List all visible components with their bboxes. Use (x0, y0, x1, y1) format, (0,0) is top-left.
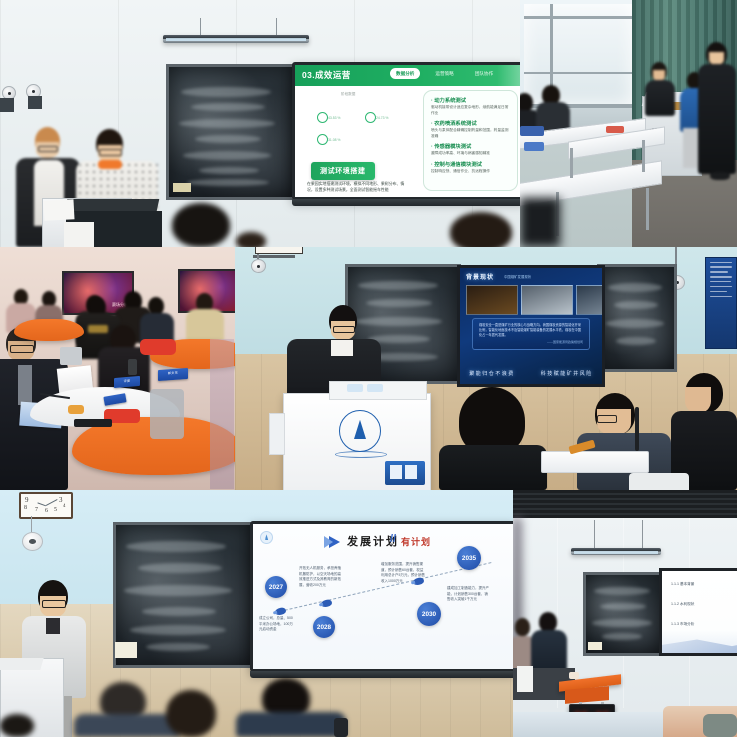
slide-performance-operations: 03.成效运营 数据分析 运营策略 团队协作 阶段数据 43.53 % 24.7… (295, 65, 520, 197)
slide-separator: // (390, 533, 396, 545)
slide-quote-box: 煤炭安全一直是煤矿行业的核心与战略方向。我国煤炭资源的智能化开采比例，智能化地面… (472, 318, 590, 350)
audience-shoulders (236, 712, 346, 737)
orange-table-back (14, 319, 84, 341)
slide-tab-0[interactable]: 数据分析 (390, 68, 420, 79)
blackboard (166, 64, 296, 200)
slide-line-2: 1.1.3 市场分析 (671, 622, 694, 627)
slide-tab-group: 数据分析 运营策略 团队协作 (390, 68, 499, 79)
ceiling-rail (253, 255, 295, 258)
eraser (115, 642, 137, 658)
security-camera-icon (251, 259, 266, 273)
slide-photo-1 (521, 285, 573, 315)
camera-mount (0, 98, 14, 112)
display-bezel-chin (292, 199, 520, 206)
donut-value-1: 24.73 % (376, 116, 388, 120)
phone (74, 419, 112, 427)
clock-number-8: 8 (24, 505, 27, 511)
donut-ring-0 (317, 112, 328, 123)
ceiling-light (571, 548, 661, 555)
clock-number-9: 9 (25, 496, 29, 504)
table-leg (570, 148, 573, 178)
slide-quote-attribution: ——国家能源局政策规划司 (479, 340, 583, 344)
window (524, 4, 632, 104)
snack (68, 405, 84, 414)
slide-photo-0 (466, 285, 518, 315)
blue-item (520, 126, 544, 136)
milestone-note-2028: 成立公司，总量、500平米办公场地，100万元启动资金 (259, 616, 293, 633)
panel-bottom-right-classroom-timer: 1.1.1 基本背景 1.1.2 水利现状 1.1.3 市场分析 00:00 (513, 490, 737, 737)
slide-title: 03.成效运营 (302, 69, 351, 81)
slide-line-1: 1.1.2 水利现状 (671, 602, 694, 607)
test-item-2: · 传感器模块测试 避障成功率高、环境与病害感知精准 (431, 142, 510, 157)
test-item-heading: · 传感器模块测试 (431, 142, 510, 150)
light-wire (276, 18, 277, 36)
wall-clock: 9 3 8 7 6 5 4 (19, 492, 73, 519)
audience-head (0, 714, 34, 737)
desk (541, 451, 649, 473)
blackboard (583, 572, 663, 656)
slide-header-bar: 03.成效运营 数据分析 运营策略 团队协作 (295, 65, 520, 86)
foreground-blur (520, 198, 560, 247)
wall-speaker (22, 532, 43, 551)
audience-head (450, 212, 512, 247)
milestone-note-2030: 增加服务范围，提升销售渠道，预计销售60台套，权益利用总计户5万元，预计销售收入… (381, 562, 425, 584)
paper-sheet (43, 199, 74, 221)
eraser (588, 642, 602, 650)
university-seal-icon (339, 410, 381, 452)
test-item-body: 驱动机接带设计适应复杂地形，续航能满足日常作业 (431, 105, 510, 116)
slide-body: 阶段数据 43.53 % 24.73 % 31.08 % 测试环境搭建 在果园实… (295, 86, 520, 197)
rocket-icon-1 (318, 599, 333, 609)
audience-head (236, 232, 266, 247)
display-blue-slide: 背景现状 中国煤矿发展现状 煤炭安全一直是煤矿行业的核心与战略方向。我国煤炭资源… (457, 265, 605, 387)
slide-logo-icon (260, 531, 273, 544)
front-table (513, 712, 663, 737)
nameplate-1: 郭文东 (158, 368, 188, 381)
blackboard-right (597, 264, 677, 372)
audience-head (172, 203, 230, 247)
pen-upright (635, 407, 639, 451)
milestone-bubble-2030: 2030 (417, 602, 441, 626)
clock-number-7: 7 (35, 507, 38, 513)
podium-top (0, 658, 44, 670)
nameplate-text: 评委 (114, 376, 140, 387)
lectern-side (269, 413, 285, 455)
wall-display: 发展计划 // 有计划 2027 2028 2030 2035 开拓无人机服务，… (250, 521, 513, 672)
test-item-heading: · 农药喷洒系统测试 (431, 119, 510, 127)
donut-value-2: 31.08 % (328, 138, 340, 142)
slide-development-plan: 发展计划 // 有计划 2027 2028 2030 2035 开拓无人机服务，… (253, 524, 513, 669)
test-item-0: · 动力系统测试 驱动机接带设计适应复杂地形，续航能满足日常作业 (431, 96, 510, 116)
wall-display: 03.成效运营 数据分析 运营策略 团队协作 阶段数据 43.53 % 24.7… (292, 62, 520, 200)
test-item-body: 喷头与泵体配合精确控制药量和范围，药量监测准确 (431, 128, 510, 139)
slide-photo-2 (576, 285, 605, 315)
panel-top-left-classroom: 03.成效运营 数据分析 运营策略 团队协作 阶段数据 43.53 % 24.7… (0, 0, 520, 247)
blue-item (524, 142, 544, 151)
slide-pill-label: 测试环境搭建 (311, 162, 375, 180)
blue-tag-inner (405, 465, 417, 479)
window-mullion (524, 16, 632, 19)
lectern-badge (367, 384, 383, 392)
milestone-bubble-2027: 2027 (265, 576, 287, 598)
clock-number-4: 4 (63, 504, 66, 509)
seal-ring (335, 451, 387, 458)
donut-ring-2 (317, 134, 328, 145)
ceiling-light (163, 35, 309, 43)
blue-tag-inner (390, 465, 402, 479)
test-item-heading: · 控制与通信模块测试 (431, 160, 510, 168)
donut-ring-1 (365, 112, 376, 123)
light-wire (594, 520, 595, 550)
red-bag (140, 339, 176, 355)
slide-tab-2[interactable]: 团队协作 (469, 68, 499, 79)
red-item (606, 126, 624, 133)
slide-footer-1: 科技赋能矿井风险 (541, 370, 593, 377)
slide-tab-1[interactable]: 运营策略 (429, 68, 459, 79)
slide-footer-0: 聚能归仓不浪费 (469, 370, 515, 377)
camera-mount (28, 96, 42, 109)
chair-back (150, 389, 184, 439)
slide-footer: 聚能归仓不浪费 科技赋能矿井风险 (460, 370, 602, 377)
display-bezel-chin (457, 386, 605, 387)
clock-hand-minute (46, 499, 58, 506)
lectern-badge (347, 384, 363, 392)
panel-bottom-left-development-plan: 9 3 8 7 6 5 4 发展计划 / (0, 490, 513, 737)
table-leg (646, 188, 649, 230)
clock-hand-hour (37, 502, 46, 506)
display-bezel-chin (659, 655, 737, 656)
test-item-3: · 控制与通信模块测试 控制响应快、通信作业、抗远程操作 (431, 160, 510, 175)
panel-top-right-seminar (520, 0, 737, 247)
window-mullion (524, 72, 632, 74)
paper-sheet (64, 222, 94, 247)
milestone-note-2035: 建成加工制造能力，提升产能，计划销售300台套，销售收入突破1千万元 (447, 586, 489, 603)
clock-number-6: 6 (45, 508, 48, 514)
slide-subtitle: 中国煤矿发展现状 (504, 274, 531, 279)
slide-title: 背景现状 (466, 272, 494, 281)
slide-test-list: · 动力系统测试 驱动机接带设计适应复杂地形，续航能满足日常作业 · 农药喷洒系… (423, 90, 518, 191)
bag (703, 714, 737, 737)
test-item-body: 避障成功率高、环境与病害感知精准 (431, 151, 510, 157)
test-item-heading: · 动力系统测试 (431, 96, 510, 104)
milestone-bubble-2035: 2035 (457, 546, 481, 570)
table-leg (642, 140, 645, 172)
audience-head (166, 690, 216, 737)
slide-quote-text: 煤炭安全一直是煤矿行业的核心与战略方向。我国煤炭资源的智能化开采比例，智能化地面… (479, 323, 583, 338)
speaker-stem (31, 516, 32, 532)
display-bezel-chin (250, 671, 513, 678)
test-item-1: · 农药喷洒系统测试 喷头与泵体配合精确控制药量和范围，药量监测准确 (431, 119, 510, 139)
chair-back (629, 473, 689, 490)
audience-shoulders (74, 714, 180, 737)
donut-value-0: 43.53 % (328, 116, 340, 120)
thermos (128, 359, 137, 375)
slide-line-0: 1.1.1 基本背景 (671, 582, 694, 587)
test-item-body: 控制响应快、通信作业、抗远程操作 (431, 169, 510, 175)
wall-poster (705, 257, 737, 349)
rocket-icon-0 (272, 607, 287, 617)
bottle (334, 718, 348, 737)
nameplate-text: 郭文东 (158, 368, 188, 379)
light-wire (642, 520, 643, 550)
small-item (569, 672, 579, 679)
chair-back (60, 347, 82, 365)
eraser (173, 183, 191, 192)
wall-sign (255, 247, 303, 254)
arrow-icon (329, 536, 340, 548)
slide-decoration (662, 635, 737, 653)
slide-subtitle: 有计划 (401, 535, 431, 548)
slide-photo-strip (466, 285, 605, 315)
slide-pill-paragraph: 在果园实地搭建测试环境，模拟不同地形、果树分布、情况，设置多种测试场景，全面测试… (307, 181, 411, 193)
podium-top (65, 199, 160, 211)
panel-middle-center-lecture-hall: 背景现状 中国煤矿发展现状 煤炭安全一直是煤矿行业的核心与战略方向。我国煤炭资源… (235, 247, 737, 490)
clock-number-5: 5 (54, 507, 57, 513)
ceiling-grille (513, 490, 737, 518)
clock-number-3: 3 (59, 496, 63, 504)
wall-strip (210, 339, 234, 489)
chart-caption: 阶段数据 (341, 92, 355, 97)
milestone-note-2027: 开拓无人机服务，承担养殖机撒防护，以空天场地的高效推进方式及其教育的新拓展，营收… (299, 566, 341, 588)
milestone-bubble-2028: 2028 (313, 616, 335, 638)
photo-collage: 03.成效运营 数据分析 运营策略 团队协作 阶段数据 43.53 % 24.7… (0, 0, 737, 737)
paper-sheet (517, 666, 533, 692)
light-wire (200, 18, 201, 36)
wall-display: 1.1.1 基本背景 1.1.2 水利现状 1.1.3 市场分析 (659, 568, 737, 656)
panel-middle-left-audience: 赛场分析 (0, 247, 235, 490)
